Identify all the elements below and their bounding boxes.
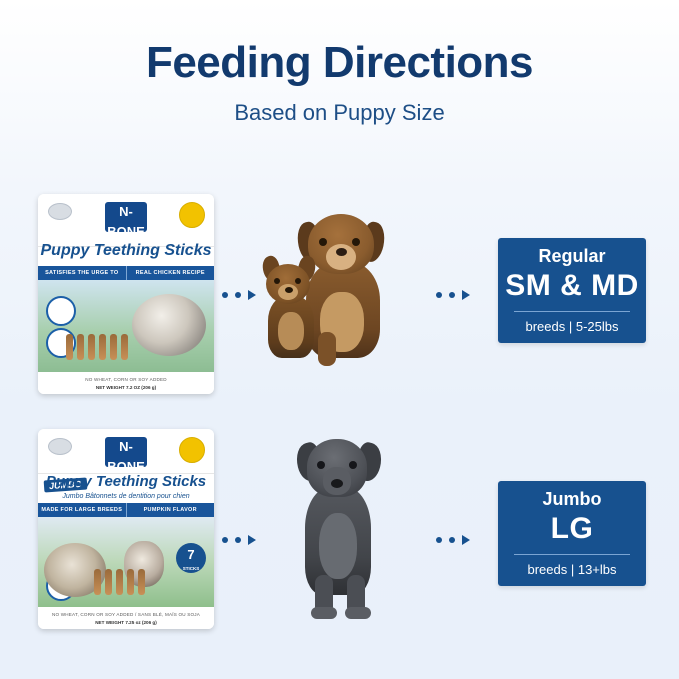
bag-footer-line1: NO WHEAT, CORN OR SOY ADDED / SANS BLÉ, … — [38, 612, 214, 617]
size-card-kind: Jumbo — [498, 481, 646, 512]
claims-strip: MADE FOR LARGE BREEDS PUMPKIN FLAVOR — [38, 503, 214, 517]
brand-logo: N-BONE by naturals — [105, 437, 147, 467]
puppy-leg-left — [318, 332, 336, 366]
dane-paw-left — [311, 607, 337, 619]
dane-eye-right — [349, 461, 357, 469]
small-puppy-chest — [278, 312, 304, 350]
puppy-photo-jumbo — [275, 435, 415, 625]
header: Feeding Directions Based on Puppy Size — [0, 40, 679, 126]
product-bag-regular: N-BONE by naturals Puppy Teething Sticks… — [38, 194, 214, 394]
puppy-eye-left — [319, 238, 327, 246]
dane-eye-left — [317, 461, 325, 469]
bag-puppy-photo — [132, 294, 206, 356]
claim-right: REAL CHICKEN RECIPE — [127, 266, 215, 280]
usa-flag-icon — [48, 438, 72, 455]
size-card-jumbo: Jumbo LG breeds | 13+lbs — [498, 481, 646, 586]
small-puppy-eye-left — [274, 278, 280, 284]
dane-paw-right — [345, 607, 371, 619]
bag-top-panel-jumbo: N-BONE by naturals — [38, 429, 214, 474]
puppy-photo-regular — [262, 208, 412, 368]
stick-count-label: STICKS — [176, 567, 206, 571]
row-jumbo: N-BONE by naturals JUMBO Puppy Teething … — [0, 415, 679, 655]
connector-bag-to-puppy-jumbo — [222, 535, 256, 545]
chew-sticks-photo — [66, 332, 142, 360]
brand-logo: N-BONE by naturals — [105, 202, 147, 232]
quality-seal-icon — [179, 202, 205, 228]
stick-count-badge: 7 STICKS — [176, 543, 206, 573]
page-subtitle: Based on Puppy Size — [0, 100, 679, 126]
badge-icon-1 — [46, 296, 76, 326]
bag-photo: 7 STICKS — [38, 517, 214, 607]
bag-footer-line2: NET WEIGHT 7.2 OZ (206 g) — [38, 385, 214, 390]
bag-footer: NO WHEAT, CORN OR SOY ADDED / SANS BLÉ, … — [38, 607, 214, 629]
size-card-breeds: breeds | 13+lbs — [498, 555, 646, 586]
warning-seal-icon — [179, 437, 205, 463]
connector-puppy-to-card-jumbo — [436, 535, 470, 545]
size-card-regular: Regular SM & MD breeds | 5-25lbs — [498, 238, 646, 343]
puppy-nose-large — [336, 248, 347, 256]
usa-flag-icon — [48, 203, 72, 220]
dane-chest — [319, 513, 357, 579]
product-name-fr: Jumbo Bâtonnets de dentition pour chien — [38, 493, 214, 500]
page-title: Feeding Directions — [0, 40, 679, 86]
infographic-page: Feeding Directions Based on Puppy Size N… — [0, 0, 679, 679]
bag-top-panel: N-BONE by naturals — [38, 194, 214, 247]
small-puppy-eye-right — [295, 278, 301, 284]
chew-sticks-photo — [94, 567, 170, 595]
claim-left: MADE FOR LARGE BREEDS — [38, 503, 126, 517]
product-name: Puppy Teething Sticks — [38, 473, 214, 490]
bag-footer: NO WHEAT, CORN OR SOY ADDED NET WEIGHT 7… — [38, 372, 214, 394]
brand-name: N-BONE — [107, 204, 145, 239]
puppy-leg-right — [350, 332, 368, 366]
size-card-kind: Regular — [498, 238, 646, 269]
product-bag-jumbo: N-BONE by naturals JUMBO Puppy Teething … — [38, 429, 214, 629]
bag-footer-line2: NET WEIGHT 7.25 oz (206 g) — [38, 620, 214, 625]
brand-name: N-BONE — [107, 439, 145, 474]
size-card-size: LG — [498, 512, 646, 554]
connector-bag-to-puppies-regular — [222, 290, 256, 300]
product-name: Puppy Teething Sticks — [38, 242, 214, 260]
claim-right: PUMPKIN FLAVOR — [127, 503, 215, 517]
bag-footer-line1: NO WHEAT, CORN OR SOY ADDED — [38, 377, 214, 382]
puppy-eye-right — [352, 238, 360, 246]
size-card-size: SM & MD — [498, 269, 646, 311]
dane-nose — [331, 479, 343, 488]
connector-puppies-to-card-regular — [436, 290, 470, 300]
small-puppy-nose — [285, 287, 293, 293]
claims-strip: SATISFIES THE URGE TO CHEW REAL CHICKEN … — [38, 266, 214, 280]
row-regular: N-BONE by naturals Puppy Teething Sticks… — [0, 180, 679, 420]
claim-left: SATISFIES THE URGE TO CHEW — [38, 266, 126, 280]
size-card-breeds: breeds | 5-25lbs — [498, 312, 646, 343]
bag-photo — [38, 280, 214, 372]
stick-count-number: 7 — [187, 547, 194, 562]
